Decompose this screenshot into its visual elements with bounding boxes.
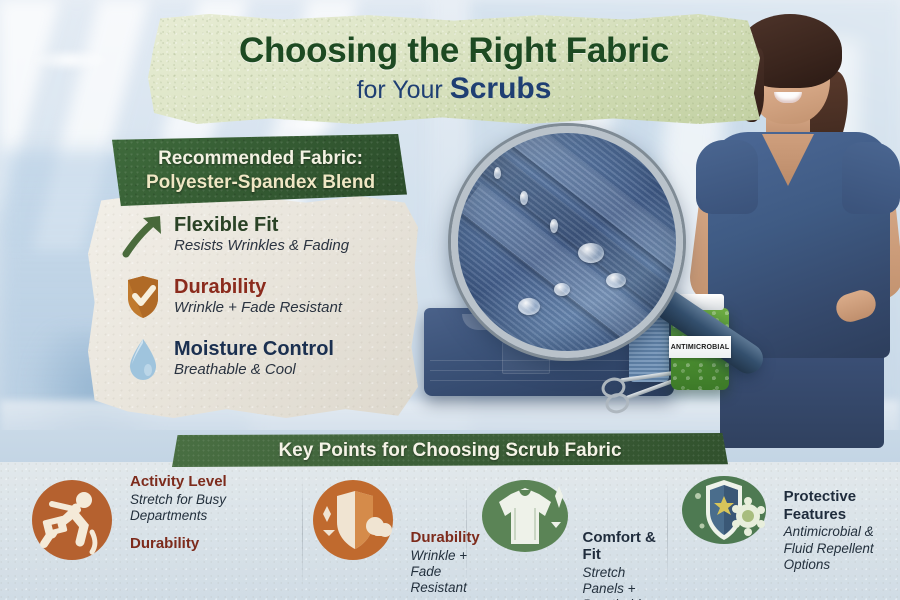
feature-subtitle: Breathable & Cool (174, 361, 334, 379)
water-droplet (494, 167, 501, 179)
feature-text: Durability Wrinkle + Fade Resistant (174, 274, 342, 317)
shield-check-icon (122, 274, 164, 324)
feature-text: Moisture Control Breathable & Cool (174, 336, 334, 379)
nurse-sleeve-right (842, 142, 900, 214)
shield-germ-icon (676, 466, 776, 571)
water-droplet (520, 191, 528, 205)
bottle-label: ANTIMICROBIAL (669, 336, 731, 358)
feature-subtitle: Wrinkle + Fade Resistant (174, 299, 342, 317)
page-subtitle-prefix: for Your (357, 76, 450, 104)
key-point-heading: Comfort & Fit (583, 530, 662, 564)
feature-title: Moisture Control (174, 338, 334, 360)
magnifying-glass-icon (451, 126, 683, 358)
key-point-text: Activity Level Stretch for Busy Departme… (122, 474, 303, 553)
page-title: Choosing the Right Fabric (239, 33, 669, 70)
infographic-canvas: ANTIMICROBIAL Choosing the Right Fabric … (0, 0, 900, 600)
running-person-icon (22, 474, 122, 579)
key-point-subtitle: Stretch Panels + Breathable Materials (583, 565, 662, 600)
page-subtitle-strong: Scrubs (450, 72, 552, 105)
feature-item-flexible-fit: Flexible Fit Resists Wrinkles & Fading (122, 212, 422, 262)
feature-title: Durability (174, 276, 342, 298)
title-block: Choosing the Right Fabric for Your Scrub… (148, 20, 760, 120)
feature-text: Flexible Fit Resists Wrinkles & Fading (174, 212, 349, 255)
feature-item-moisture-control: Moisture Control Breathable & Cool (122, 336, 422, 386)
key-point-heading: Protective Features (784, 488, 900, 523)
nurse-sleeve-left (696, 140, 758, 214)
feature-title: Flexible Fit (174, 214, 349, 236)
key-point-second-heading: Durability (130, 536, 303, 553)
key-points-columns: Activity Level Stretch for Busy Departme… (0, 466, 900, 598)
recommended-value: Polyester-Spandex Blend (146, 171, 375, 195)
feature-subtitle: Resists Wrinkles & Fading (174, 237, 349, 255)
key-point-heading: Activity Level (130, 474, 303, 491)
water-droplet (578, 243, 604, 263)
key-point-durability: Durability Wrinkle + Fade Resistant (303, 466, 463, 598)
bottle-label-text: ANTIMICROBIAL (671, 344, 730, 351)
recommended-fabric-text: Recommended Fabric: Polyester-Spandex Bl… (118, 140, 403, 202)
key-point-activity-level: Activity Level Stretch for Busy Departme… (0, 466, 303, 598)
scrub-top-icon (475, 474, 575, 579)
key-points-heading: Key Points for Choosing Scrub Fabric (172, 436, 728, 466)
key-point-text: Protective Features Antimicrobial & Flui… (776, 466, 900, 573)
page-subtitle: for Your Scrubs (357, 71, 552, 107)
arrow-up-right-icon (122, 212, 164, 262)
water-droplet (554, 283, 570, 296)
key-point-comfort-fit: Comfort & Fit Stretch Panels + Breathabl… (463, 466, 662, 598)
key-point-subtitle: Antimicrobial & Fluid Repellent Options (784, 524, 900, 573)
feature-list: Flexible Fit Resists Wrinkles & Fading D… (122, 212, 422, 398)
water-droplet (550, 219, 558, 233)
water-droplet (606, 273, 626, 288)
water-droplet (518, 298, 540, 315)
key-point-text: Comfort & Fit Stretch Panels + Breathabl… (575, 474, 662, 600)
key-point-protective-features: Protective Features Antimicrobial & Flui… (662, 466, 900, 598)
water-drop-icon (122, 336, 164, 386)
shield-sparkle-icon (303, 474, 403, 579)
feature-item-durability: Durability Wrinkle + Fade Resistant (122, 274, 422, 324)
recommended-label: Recommended Fabric: (158, 147, 363, 171)
key-point-subtitle: Stretch for Busy Departments (130, 492, 303, 524)
